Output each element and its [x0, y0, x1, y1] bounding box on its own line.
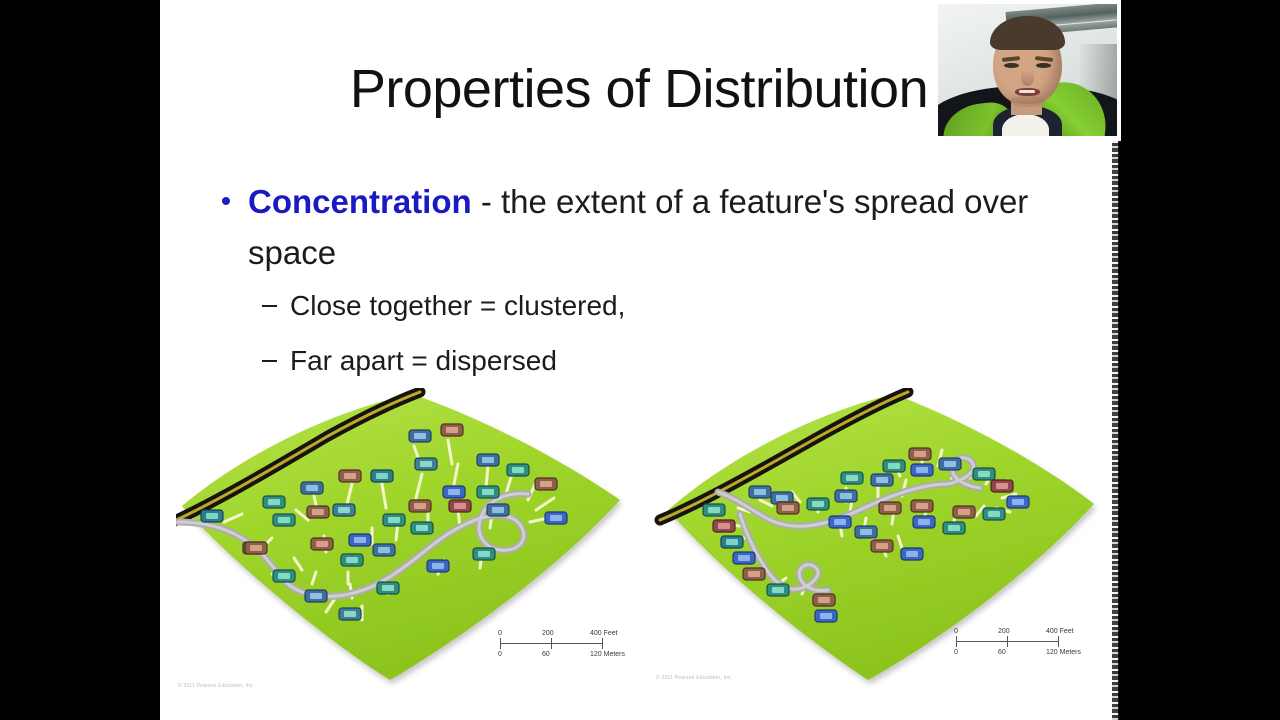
webcam-video: [938, 4, 1117, 136]
scale-tick-label: 0: [954, 647, 958, 658]
scale-unit-label: 400 Feet: [1046, 626, 1074, 637]
list-item: Concentration - the extent of a feature'…: [212, 176, 1112, 278]
dash-bullet-icon: [262, 305, 277, 307]
bullet-dot-icon: [222, 197, 230, 205]
scale-tick-label: 0: [498, 649, 502, 660]
scale-unit-label: 400 Feet: [590, 628, 618, 639]
letterbox-left: [0, 0, 160, 720]
dispersed-map-figure: 0 200 400 Feet 0 60 120 Meters: [176, 388, 626, 688]
figure-credit: © 2011 Pearson Education, Inc.: [178, 683, 254, 689]
scale-tick: [1058, 636, 1059, 647]
presenter-teeth: [1019, 90, 1035, 93]
presenter-nose: [1021, 70, 1034, 86]
presenter-eye-left: [1004, 63, 1018, 68]
sub-bullet-text: Close together = clustered,: [290, 290, 625, 321]
scale-tick: [602, 638, 603, 649]
presenter-chin: [1010, 96, 1046, 107]
clustered-map-figure: 0 200 400 Feet 0 60 120 Meters: [654, 388, 1104, 688]
scale-tick: [500, 638, 501, 649]
scale-tick-label: 60: [542, 649, 550, 660]
bullet-keyword: Concentration: [248, 183, 472, 220]
scale-unit-label: 120 Meters: [1046, 647, 1081, 658]
figure-credit: © 2011 Pearson Education, Inc.: [656, 675, 732, 681]
scale-bar: 0 200 400 Feet 0 60 120 Meters: [498, 628, 638, 668]
scale-tick-label: 60: [998, 647, 1006, 658]
dash-bullet-icon: [262, 360, 277, 362]
scale-row-feet: 0 200 400 Feet: [498, 628, 638, 639]
scale-tick: [551, 638, 552, 649]
scale-row-feet: 0 200 400 Feet: [954, 626, 1094, 637]
scale-tick: [956, 636, 957, 647]
list-item: Close together = clustered,: [212, 278, 1112, 333]
scale-unit-label: 120 Meters: [590, 649, 625, 660]
scale-row-meters: 0 60 120 Meters: [498, 649, 638, 660]
sub-bullet-text: Far apart = dispersed: [290, 345, 557, 376]
scale-bar: 0 200 400 Feet 0 60 120 Meters: [954, 626, 1094, 666]
letterbox-right: [1118, 0, 1280, 720]
bullet-list: Concentration - the extent of a feature'…: [212, 176, 1112, 388]
list-item: Far apart = dispersed: [212, 333, 1112, 388]
scale-tick: [1007, 636, 1008, 647]
scale-row-meters: 0 60 120 Meters: [954, 647, 1094, 658]
presenter-webcam-overlay[interactable]: [933, 0, 1121, 141]
video-frame: Properties of Distribution Concentration…: [0, 0, 1280, 720]
